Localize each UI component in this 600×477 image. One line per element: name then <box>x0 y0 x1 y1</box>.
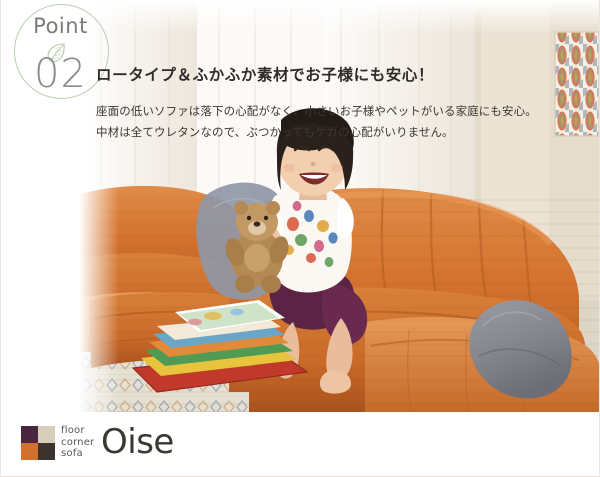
description-line-1: 座面の低いソファは落下の心配がなく、小さいお子様やペットがいる家庭にも安心。 <box>96 103 537 119</box>
swatch-beige <box>38 426 55 443</box>
brand-footer: floor corner sofa Oise <box>1 412 600 477</box>
point-badge-label: Point <box>14 14 107 38</box>
page-title: ロータイプ＆ふかふか素材でお子様にも安心！ <box>96 63 434 85</box>
product-photo <box>79 0 600 412</box>
brand-word-corner: corner <box>61 437 94 449</box>
point-badge-number: 02 <box>14 52 107 96</box>
product-photo-svg <box>79 0 600 412</box>
brand-word-sofa: sofa <box>61 448 94 460</box>
swatch-purple <box>21 426 38 443</box>
swatch-orange <box>21 443 38 460</box>
brand-name: Oise <box>101 422 174 462</box>
brand-word-floor: floor <box>61 425 94 437</box>
brand-descriptor: floor corner sofa <box>61 425 94 460</box>
description-line-2: 中材は全てウレタンなので、ぶつかってもケガの心配がいりません。 <box>96 124 454 140</box>
swatch-brown <box>38 443 55 460</box>
fabric-swatches <box>21 426 55 460</box>
promo-panel: Point 02 ロータイプ＆ふかふか素材でお子様にも安心！ 座面の低いソファは… <box>0 0 600 477</box>
wall-art-panel <box>555 32 599 136</box>
